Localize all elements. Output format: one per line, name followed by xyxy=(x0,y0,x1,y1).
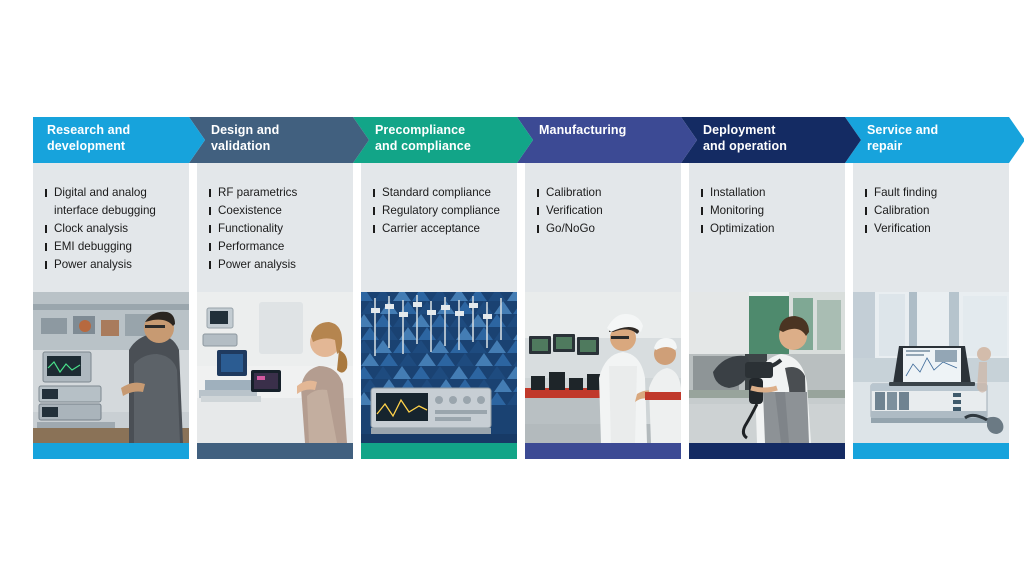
bullet-item: Coexistence xyxy=(208,202,348,220)
diagram-canvas: Research and developmentDigital and anal… xyxy=(0,0,1024,576)
bullet-item: Monitoring xyxy=(700,202,840,220)
bullet-item: Functionality xyxy=(208,220,348,238)
stage-title-design-and-validation: Design and validation xyxy=(211,123,347,154)
bullet-tick-icon xyxy=(209,225,211,233)
stage-bullet-panel-manufacturing: CalibrationVerificationGo/NoGo xyxy=(525,163,681,292)
stage-footer-bar-design-and-validation xyxy=(197,443,353,459)
stage-footer-bar-deployment-and-operation xyxy=(689,443,845,459)
bullet-tick-icon xyxy=(537,207,539,215)
bullet-label: EMI debugging xyxy=(54,240,132,253)
bullet-item: Standard compliance xyxy=(372,184,512,202)
lifecycle-stage-manufacturing[interactable]: ManufacturingCalibrationVerificationGo/N… xyxy=(525,117,681,459)
bullet-tick-icon xyxy=(701,225,703,233)
bullet-label: Calibration xyxy=(546,186,601,199)
bullet-tick-icon xyxy=(209,189,211,197)
stage-bullet-list-precompliance-and-compliance: Standard complianceRegulatory compliance… xyxy=(372,184,512,238)
bullet-label: Go/NoGo xyxy=(546,222,595,235)
bullet-label: Standard compliance xyxy=(382,186,491,199)
lifecycle-stage-deployment-and-operation[interactable]: Deployment and operationInstallationMoni… xyxy=(689,117,845,459)
stage-bullet-panel-service-and-repair: Fault findingCalibrationVerification xyxy=(853,163,1009,292)
bullet-label: Functionality xyxy=(218,222,283,235)
bullet-item: Power analysis xyxy=(44,256,184,274)
bullet-item: Verification xyxy=(536,202,676,220)
bullet-tick-icon xyxy=(373,207,375,215)
bullet-tick-icon xyxy=(373,189,375,197)
bullet-item: Calibration xyxy=(864,202,1004,220)
bullet-item: EMI debugging xyxy=(44,238,184,256)
stage-footer-bar-precompliance-and-compliance xyxy=(361,443,517,459)
bullet-item: Installation xyxy=(700,184,840,202)
bullet-label: Monitoring xyxy=(710,204,764,217)
bullet-label: Optimization xyxy=(710,222,774,235)
stage-bullet-list-design-and-validation: RF parametricsCoexistenceFunctionalityPe… xyxy=(208,184,348,274)
engineer-validating-circuit-board-photo xyxy=(197,292,353,443)
stage-bullet-panel-design-and-validation: RF parametricsCoexistenceFunctionalityPe… xyxy=(197,163,353,292)
bullet-label: Installation xyxy=(710,186,765,199)
stage-footer-bar-research-and-development xyxy=(33,443,189,459)
stage-footer-bar-service-and-repair xyxy=(853,443,1009,459)
bullet-tick-icon xyxy=(865,189,867,197)
stage-title-manufacturing: Manufacturing xyxy=(539,123,675,139)
stage-bullet-list-manufacturing: CalibrationVerificationGo/NoGo xyxy=(536,184,676,238)
bullet-tick-icon xyxy=(45,243,47,251)
bullet-tick-icon xyxy=(209,261,211,269)
stage-bullet-panel-precompliance-and-compliance: Standard complianceRegulatory compliance… xyxy=(361,163,517,292)
bullet-tick-icon xyxy=(45,189,47,197)
bullet-label: Digital and analog interface debugging xyxy=(54,186,156,217)
bullet-label: Carrier acceptance xyxy=(382,222,480,235)
field-drive-test-antenna-photo xyxy=(689,292,845,443)
stage-header-precompliance-and-compliance[interactable]: Precompliance and compliance xyxy=(353,117,533,163)
bullet-tick-icon xyxy=(701,189,703,197)
bullet-label: Fault finding xyxy=(874,186,937,199)
bullet-item: Carrier acceptance xyxy=(372,220,512,238)
bullet-label: Regulatory compliance xyxy=(382,204,500,217)
bullet-tick-icon xyxy=(537,225,539,233)
stage-bullet-list-research-and-development: Digital and analog interface debuggingCl… xyxy=(44,184,184,274)
bullet-tick-icon xyxy=(209,243,211,251)
stage-header-service-and-repair[interactable]: Service and repair xyxy=(845,117,1024,163)
bullet-tick-icon xyxy=(865,225,867,233)
lifecycle-stage-track: Research and developmentDigital and anal… xyxy=(33,117,977,459)
bullet-item: Regulatory compliance xyxy=(372,202,512,220)
bullet-label: Verification xyxy=(874,222,931,235)
bullet-tick-icon xyxy=(45,261,47,269)
bullet-label: Calibration xyxy=(874,204,929,217)
stage-title-service-and-repair: Service and repair xyxy=(867,123,1003,154)
lifecycle-stage-design-and-validation[interactable]: Design and validationRF parametricsCoexi… xyxy=(197,117,353,459)
lab-engineer-with-oscilloscopes-photo xyxy=(33,292,189,443)
bullet-item: Verification xyxy=(864,220,1004,238)
bullet-label: Power analysis xyxy=(218,258,296,271)
stage-title-research-and-development: Research and development xyxy=(47,123,183,154)
bullet-label: Power analysis xyxy=(54,258,132,271)
bullet-tick-icon xyxy=(45,225,47,233)
lifecycle-stage-precompliance-and-compliance[interactable]: Precompliance and complianceStandard com… xyxy=(361,117,517,459)
bullet-tick-icon xyxy=(373,225,375,233)
bullet-tick-icon xyxy=(537,189,539,197)
stage-bullet-list-deployment-and-operation: InstallationMonitoringOptimization xyxy=(700,184,840,238)
bullet-item: Power analysis xyxy=(208,256,348,274)
bullet-item: Performance xyxy=(208,238,348,256)
stage-footer-bar-manufacturing xyxy=(525,443,681,459)
bullet-label: Clock analysis xyxy=(54,222,128,235)
bullet-tick-icon xyxy=(209,207,211,215)
bullet-label: Performance xyxy=(218,240,284,253)
stage-header-design-and-validation[interactable]: Design and validation xyxy=(189,117,369,163)
stage-header-manufacturing[interactable]: Manufacturing xyxy=(517,117,697,163)
bullet-label: Verification xyxy=(546,204,603,217)
stage-header-research-and-development[interactable]: Research and development xyxy=(33,117,205,163)
bullet-label: Coexistence xyxy=(218,204,282,217)
stage-title-deployment-and-operation: Deployment and operation xyxy=(703,123,839,154)
bullet-item: Go/NoGo xyxy=(536,220,676,238)
bullet-item: Clock analysis xyxy=(44,220,184,238)
bullet-item: Optimization xyxy=(700,220,840,238)
production-line-operators-photo xyxy=(525,292,681,443)
anechoic-chamber-emc-test-photo xyxy=(361,292,517,443)
stage-bullet-panel-deployment-and-operation: InstallationMonitoringOptimization xyxy=(689,163,845,292)
bullet-label: RF parametrics xyxy=(218,186,297,199)
stage-bullet-panel-research-and-development: Digital and analog interface debuggingCl… xyxy=(33,163,189,292)
lifecycle-stage-research-and-development[interactable]: Research and developmentDigital and anal… xyxy=(33,117,189,459)
lifecycle-stage-service-and-repair[interactable]: Service and repairFault findingCalibrati… xyxy=(853,117,1009,459)
bullet-item: RF parametrics xyxy=(208,184,348,202)
bullet-tick-icon xyxy=(865,207,867,215)
stage-header-deployment-and-operation[interactable]: Deployment and operation xyxy=(681,117,861,163)
bullet-tick-icon xyxy=(701,207,703,215)
stage-bullet-list-service-and-repair: Fault findingCalibrationVerification xyxy=(864,184,1004,238)
bullet-item: Calibration xyxy=(536,184,676,202)
stage-title-precompliance-and-compliance: Precompliance and compliance xyxy=(375,123,511,154)
service-bench-laptop-instrument-photo xyxy=(853,292,1009,443)
bullet-item: Digital and analog interface debugging xyxy=(44,184,184,220)
bullet-item: Fault finding xyxy=(864,184,1004,202)
